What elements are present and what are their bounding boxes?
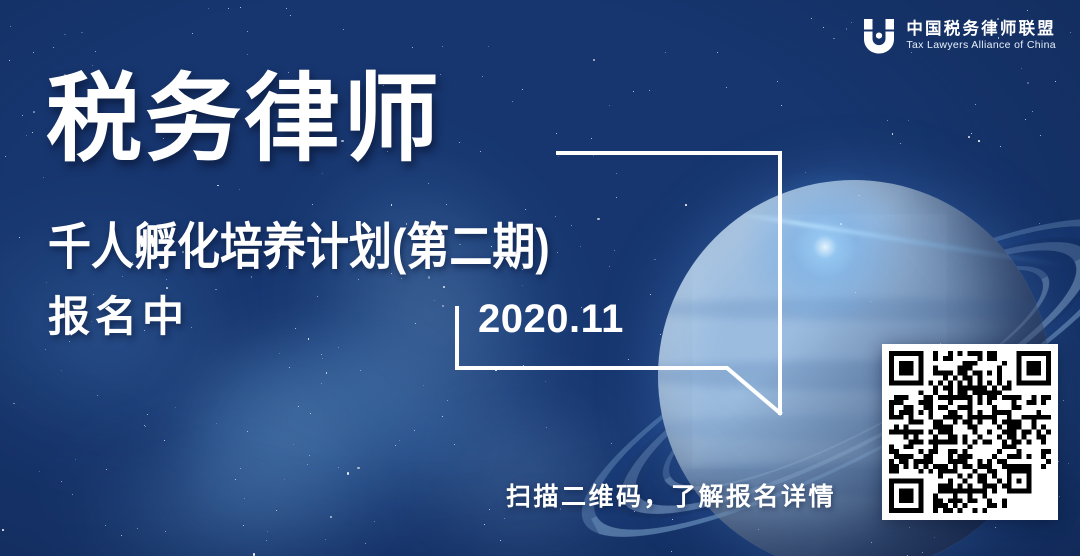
logo-name-en: Tax Lawyers Alliance of China (906, 40, 1056, 51)
scan-caption: 扫描二维码，了解报名详情 (506, 485, 836, 510)
alliance-u-shield-icon (862, 18, 896, 54)
logo-name-cn: 中国税务律师联盟 (906, 21, 1056, 38)
promo-banner: 中国税务律师联盟 Tax Lawyers Alliance of China 税… (0, 0, 1080, 556)
qr-code-image (889, 351, 1051, 513)
qr-code[interactable] (882, 344, 1058, 520)
event-date: 2020.11 (478, 299, 624, 339)
program-subtitle: 千人孵化培养计划(第二期) (48, 222, 550, 272)
brand-logo: 中国税务律师联盟 Tax Lawyers Alliance of China (862, 18, 1056, 54)
page-title: 税务律师 (46, 72, 442, 168)
status-badge: 报名中 (48, 296, 189, 338)
